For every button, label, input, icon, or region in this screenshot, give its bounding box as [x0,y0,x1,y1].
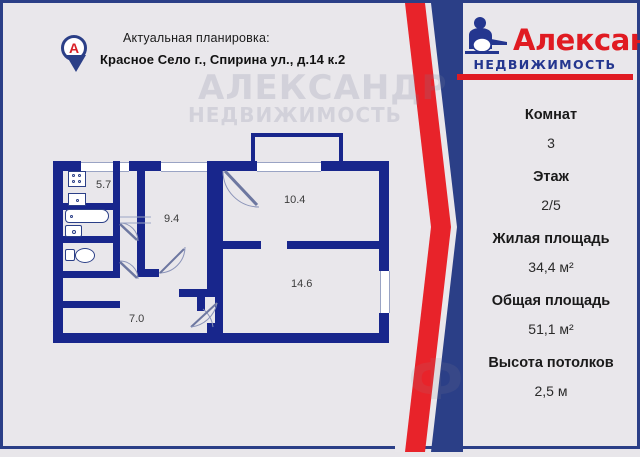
rooms-label: Комнат [465,107,637,123]
living-area-value: 34,4 м² [465,259,637,275]
plan-caption: Актуальная планировка: [123,31,393,45]
room-area-bedroom-104: 10.4 [284,194,305,206]
logo-subtitle: НЕДВИЖИМОСТЬ [457,57,633,72]
realtor-figure-icon [455,15,511,63]
floor-value: 2/5 [465,197,637,213]
total-area-label: Общая площадь [465,293,637,309]
floor-label: Этаж [465,169,637,185]
logo-underline-bar [457,74,633,80]
address-block: Актуальная планировка: Красное Село г., … [63,31,393,67]
room-area-hallway: 7.0 [129,313,144,325]
rooms-value: 3 [465,135,637,151]
logo-name: Александр [513,23,640,57]
company-logo: Александр НЕДВИЖИМОСТЬ [455,11,635,85]
total-area-value: 51,1 м² [465,321,637,337]
room-area-living-room: 14.6 [291,278,312,290]
room-area-kitchen: 5.7 [96,179,111,191]
property-address: Красное Село г., Спирина ул., д.14 к.2 [100,52,393,67]
door-swings [51,131,391,371]
screenshot-root: A Актуальная планировка: Красное Село г.… [0,0,640,449]
ceiling-height-label: Высота потолков [465,355,637,371]
living-area-label: Жилая площадь [465,231,637,247]
ceiling-height-value: 2,5 м [465,383,637,399]
floor-plan: 5.7 9.4 10.4 14.6 7.0 [51,131,391,371]
room-area-bedroom-94: 9.4 [164,213,179,225]
property-info-panel: Комнат 3 Этаж 2/5 Жилая площадь 34,4 м² … [465,107,637,399]
